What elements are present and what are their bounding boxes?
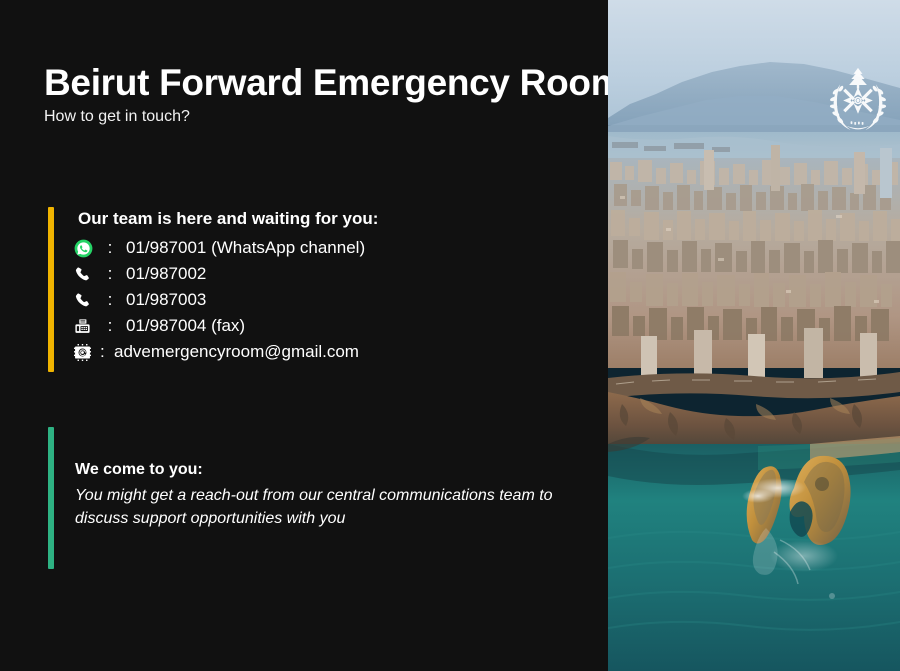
fax-icon xyxy=(74,315,100,337)
left-content-panel: Beirut Forward Emergency Room How to get… xyxy=(0,0,608,671)
contact-row-fax[interactable]: : 01/987004 (fax) xyxy=(74,313,574,339)
gold-accent-bar xyxy=(48,207,54,372)
phone-icon xyxy=(74,289,100,311)
contact-value-fax: 01/987004 (fax) xyxy=(120,316,245,336)
beirut-aerial-photo xyxy=(608,0,900,671)
contact-separator: : xyxy=(100,238,120,258)
contact-separator: : xyxy=(100,316,120,336)
contact-value-whatsapp: 01/987001 (WhatsApp channel) xyxy=(120,238,365,258)
presentation-slide: Beirut Forward Emergency Room How to get… xyxy=(0,0,900,671)
contact-rows: : 01/987001 (WhatsApp channel) : 01/9870… xyxy=(74,235,574,365)
contact-block: Our team is here and waiting for you: : … xyxy=(48,207,588,372)
page-title: Beirut Forward Emergency Room xyxy=(44,62,623,104)
phone-icon xyxy=(74,263,100,285)
outreach-heading: We come to you: xyxy=(75,461,203,479)
contact-separator: : xyxy=(100,264,120,284)
teal-accent-bar xyxy=(48,427,54,569)
outreach-body: You might get a reach-out from our centr… xyxy=(75,485,610,530)
page-subtitle: How to get in touch? xyxy=(44,108,190,126)
whatsapp-icon xyxy=(74,237,100,259)
contact-value-phone-2: 01/987003 xyxy=(120,290,206,310)
contact-row-phone-2[interactable]: : 01/987003 xyxy=(74,287,574,313)
contact-block-heading: Our team is here and waiting for you: xyxy=(78,209,378,229)
contact-value-phone-1: 01/987002 xyxy=(120,264,206,284)
contact-value-email: advemergencyroom@gmail.com xyxy=(112,342,359,362)
contact-row-whatsapp[interactable]: : 01/987001 (WhatsApp channel) xyxy=(74,235,574,261)
contact-row-phone-1[interactable]: : 01/987002 xyxy=(74,261,574,287)
email-icon xyxy=(74,341,100,363)
contact-row-email[interactable]: : advemergencyroom@gmail.com xyxy=(74,339,574,365)
contact-separator: : xyxy=(100,290,120,310)
outreach-block: We come to you: You might get a reach-ou… xyxy=(48,427,593,569)
contact-separator: : xyxy=(100,342,112,362)
lebanese-armed-forces-emblem xyxy=(821,62,895,136)
